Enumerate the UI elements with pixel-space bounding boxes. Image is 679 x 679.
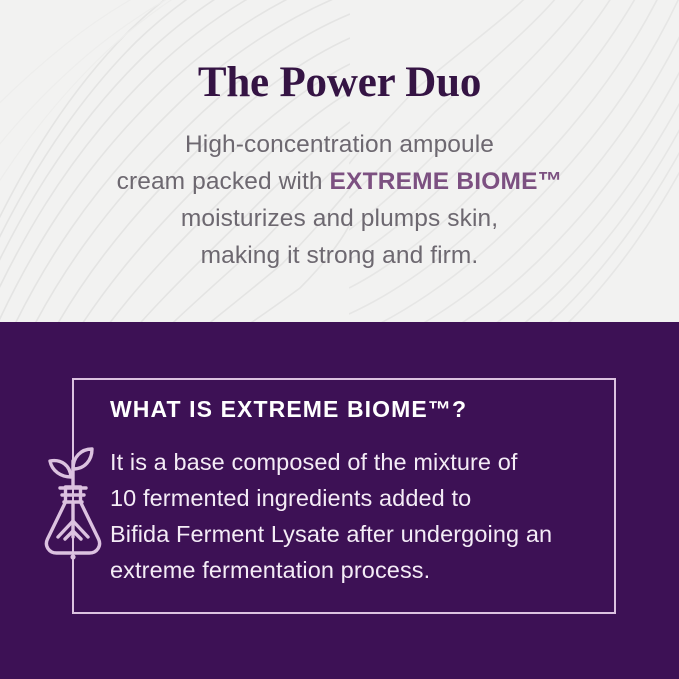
- info-body-line-2: 10 fermented ingredients added to: [110, 480, 630, 516]
- droplet-dot-icon: [70, 554, 75, 559]
- brand-name-extreme-biome: EXTREME BIOME™: [330, 168, 563, 195]
- subtitle-line-3: moisturizes and plumps skin,: [181, 205, 498, 232]
- subtitle-paragraph: High-concentration ampoule cream packed …: [0, 126, 679, 274]
- subtitle-line-2-prefix: cream packed with: [117, 168, 330, 195]
- top-light-panel: The Power Duo High-concentration ampoule…: [0, 0, 679, 322]
- info-box-heading: WHAT IS EXTREME BIOME™?: [110, 396, 630, 423]
- info-box-body: It is a base composed of the mixture of …: [110, 444, 630, 588]
- flask-sprout-icon: [38, 447, 108, 565]
- info-body-line-1: It is a base composed of the mixture of: [110, 444, 630, 480]
- info-body-line-3: Bifida Ferment Lysate after undergoing a…: [110, 516, 630, 552]
- info-body-line-4: extreme fermentation process.: [110, 552, 630, 588]
- subtitle-line-4: making it strong and firm.: [201, 242, 479, 269]
- page-title: The Power Duo: [0, 57, 679, 109]
- subtitle-line-1: High-concentration ampoule: [185, 131, 494, 158]
- promo-graphic: The Power Duo High-concentration ampoule…: [0, 0, 679, 679]
